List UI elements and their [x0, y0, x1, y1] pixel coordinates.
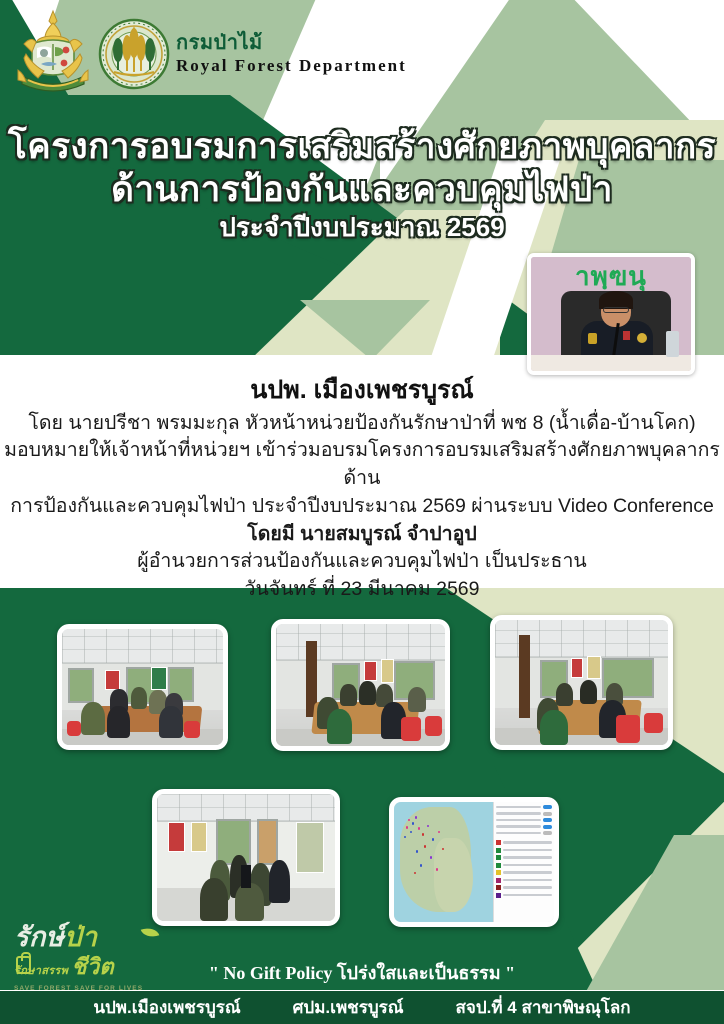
attendee	[556, 683, 573, 707]
legend-label	[503, 849, 552, 852]
body-line-1: โดย นายปรีชา พรมมะกุล หัวหน้าหน่วยป้องกั…	[0, 410, 724, 438]
legend-swatch	[496, 863, 501, 868]
legend-swatch	[496, 870, 501, 875]
attendee	[540, 710, 568, 745]
legend-row[interactable]	[496, 818, 552, 822]
legend-label	[503, 841, 552, 844]
department-name-thai: กรมป่าไม้	[176, 32, 407, 54]
speaker-rank-badge	[588, 333, 597, 344]
speaker-banner-text: าพฺฃนุ	[531, 259, 691, 293]
tripod-camera	[241, 865, 252, 888]
no-gift-policy-slogan: " No Gift Policy โปร่งใสและเป็นธรรม "	[0, 958, 724, 987]
legend-swatch	[496, 848, 501, 853]
map-legend-panel[interactable]	[493, 802, 554, 922]
photo-5	[389, 797, 559, 927]
legend-row[interactable]	[496, 848, 552, 853]
legend-row[interactable]	[496, 893, 552, 898]
chair	[67, 721, 81, 736]
chair	[184, 721, 200, 738]
ceiling	[157, 794, 335, 822]
leaf-icon	[141, 925, 160, 940]
window	[68, 668, 94, 703]
legend-toggle[interactable]	[543, 825, 552, 829]
hotspot	[432, 838, 435, 841]
legend-toggle[interactable]	[543, 831, 552, 835]
wall-notice	[587, 656, 601, 679]
body-heading: นปพ. เมืองเพชรบูรณ์	[0, 374, 724, 408]
poster-title: โครงการอบรมการเสริมสร้างศักยภาพบุคลากร ด…	[0, 126, 724, 245]
photo-1	[57, 624, 228, 750]
department-name-english: Royal Forest Department	[176, 56, 407, 76]
attendee	[340, 684, 357, 706]
wall-board	[151, 667, 167, 690]
legend-row[interactable]	[496, 812, 552, 816]
legend-row[interactable]	[496, 855, 552, 860]
photo-2	[271, 619, 450, 751]
poster-root: กรมป่าไม้ Royal Forest Department โครงกา…	[0, 0, 724, 1024]
body-line-4: โดยมี นายสมบูรณ์ จำปาอูป	[0, 521, 724, 549]
legend-row[interactable]	[496, 831, 552, 835]
title-line-1: โครงการอบรมการเสริมสร้างศักยภาพบุคลากร	[0, 126, 724, 169]
speaker-water-bottle	[666, 331, 679, 357]
attendee	[131, 687, 147, 709]
legend-row[interactable]	[496, 878, 552, 883]
speaker-desk	[531, 355, 691, 371]
legend-row[interactable]	[496, 870, 552, 875]
legend-label	[503, 864, 552, 867]
thai-royal-emblem-icon	[14, 8, 92, 100]
chair	[401, 717, 421, 741]
photo-2-scene	[276, 624, 445, 746]
body-line-6: วันจันทร์ ที่ 23 มีนาคม 2569	[0, 576, 724, 604]
title-line-2: ด้านการป้องกันและควบคุมไฟป่า	[0, 169, 724, 212]
speaker-flag-patch	[623, 331, 630, 340]
legend-toggle[interactable]	[543, 818, 552, 822]
legend-label	[496, 812, 541, 815]
hotspot-map	[394, 802, 554, 922]
map-canvas	[394, 802, 493, 922]
department-name-block: กรมป่าไม้ Royal Forest Department	[176, 32, 407, 76]
speaker-glasses	[603, 307, 629, 313]
ceiling	[276, 624, 445, 661]
wall-notice	[381, 659, 395, 682]
legend-swatch	[496, 885, 501, 890]
photo-1-scene	[62, 629, 223, 745]
speaker-photo: าพฺฃนุ	[527, 253, 695, 375]
legend-label	[503, 879, 552, 882]
attendee	[327, 709, 352, 743]
legend-row[interactable]	[496, 805, 552, 809]
header-emblems	[14, 8, 170, 100]
logo-word-pa: ป่า	[64, 922, 97, 952]
legend-row[interactable]	[496, 863, 552, 868]
wall-poster	[364, 661, 378, 682]
legend-toggle[interactable]	[543, 805, 552, 809]
attendee	[107, 706, 130, 738]
legend-swatch	[496, 855, 501, 860]
attendee	[359, 681, 376, 704]
map-landmass-indochina	[434, 838, 474, 912]
chair	[616, 715, 640, 743]
attendee	[269, 860, 290, 903]
attendee	[580, 680, 597, 704]
body-line-3: การป้องกันและควบคุมไฟป่า ประจำปีงบประมาณ…	[0, 493, 724, 521]
photo-3	[490, 615, 673, 750]
speaker-photo-content: าพฺฃนุ	[531, 257, 691, 371]
wall-poster	[571, 658, 583, 678]
photo-4	[152, 789, 340, 926]
legend-label	[503, 886, 552, 889]
hotspot	[416, 850, 419, 853]
body-line-5: ผู้อำนวยการส่วนป้องกันและควบคุมไฟป่า เป็…	[0, 548, 724, 576]
body-text-section: นปพ. เมืองเพชรบูรณ์ โดย นายปรีชา พรมมะกุ…	[0, 358, 724, 588]
footer-org-1: นปพ.เมืองเพชรบูรณ์	[93, 994, 240, 1021]
attendee	[200, 878, 228, 921]
royal-forest-department-seal-icon	[98, 18, 170, 90]
legend-label	[496, 806, 541, 809]
wall-map	[296, 822, 324, 873]
hotspot	[422, 833, 425, 836]
hotspot	[424, 845, 427, 848]
legend-row[interactable]	[496, 840, 552, 845]
legend-swatch	[496, 878, 501, 883]
legend-label	[503, 856, 552, 859]
speaker-emblem-badge	[637, 333, 647, 343]
legend-swatch	[496, 840, 501, 845]
attendee	[81, 702, 105, 734]
legend-toggle[interactable]	[543, 812, 552, 816]
legend-swatch	[496, 893, 501, 898]
legend-label	[503, 871, 552, 874]
legend-label	[496, 819, 541, 822]
chair	[644, 713, 663, 733]
doorway	[257, 819, 278, 865]
logo-word-rak: รักษ์	[14, 922, 64, 952]
attendee	[408, 687, 427, 711]
wall-poster	[105, 670, 119, 691]
hotspot	[430, 856, 433, 859]
chair	[425, 716, 442, 737]
footer-org-2: ศปม.เพชรบูรณ์	[293, 994, 404, 1021]
wall-notice	[191, 822, 207, 852]
hotspot	[418, 827, 421, 830]
legend-label	[496, 832, 541, 835]
legend-label	[496, 825, 541, 828]
attendee	[235, 883, 263, 921]
pillar	[519, 635, 529, 718]
wall-poster	[168, 822, 186, 852]
legend-row[interactable]	[496, 885, 552, 890]
logo-line-1: รักษ์ป่า	[14, 925, 184, 951]
footer-org-3: สจป.ที่ 4 สาขาพิษณุโลก	[456, 994, 631, 1021]
footer-bar: นปพ.เมืองเพชรบูรณ์ ศปม.เพชรบูรณ์ สจป.ที่…	[0, 991, 724, 1024]
legend-label	[503, 894, 552, 897]
photo-4-scene	[157, 794, 335, 921]
legend-row[interactable]	[496, 825, 552, 829]
attendee	[159, 706, 183, 738]
hotspot	[436, 868, 439, 871]
title-line-3: ประจำปีงบประมาณ 2569	[0, 211, 724, 245]
ceiling	[62, 629, 223, 664]
photo-3-scene	[495, 620, 668, 745]
body-line-2: มอบหมายให้เจ้าหน้าที่หน่วยฯ เข้าร่วมอบรม…	[0, 437, 724, 492]
